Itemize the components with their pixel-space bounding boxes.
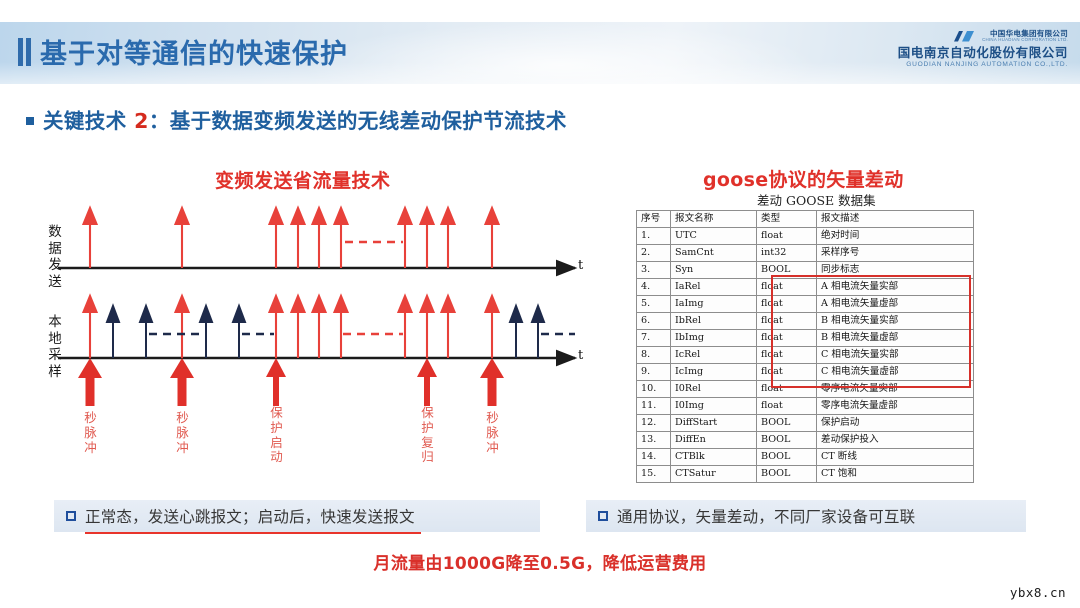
brand-en-small: CHINA HUADIAN CORPORATION LTD. [982,38,1068,43]
table-cell: 9. [637,364,671,381]
callout-label: 保护复归 [420,406,435,465]
right-panel-heading: goose协议的矢量差动 [703,165,904,192]
table-cell: IcImg [671,364,757,381]
table-cell: 5. [637,296,671,313]
table-caption: 差动 GOOSE 数据集 [757,190,876,209]
table-cell: A 相电流矢量实部 [817,279,974,296]
note-right-text: 通用协议，矢量差动，不同厂家设备可互联 [617,505,915,527]
brand-en-big: GUODIAN NANJING AUTOMATION CO.,LTD. [898,61,1068,68]
table-cell: DiffStart [671,415,757,432]
timing-diagram: 数据发送 本地采样 t t [30,196,590,486]
table-cell: B 相电流矢量虚部 [817,330,974,347]
brand-cn-big: 国电南京自动化股份有限公司 [898,46,1068,60]
table-cell: C 相电流矢量实部 [817,347,974,364]
title-bars-icon [18,38,31,66]
table-header-cell: 序号 [637,211,671,228]
left-panel-heading: 变频发送省流量技术 [215,166,391,193]
subtitle-text: 关键技术 2：基于数据变频发送的无线差动保护节流技术 [43,104,567,134]
table-cell: CT 断线 [817,449,974,466]
table-cell: 13. [637,432,671,449]
table-cell: B 相电流矢量实部 [817,313,974,330]
note-marker-icon [66,511,76,521]
table-row: 13.DiffEnBOOL差动保护投入 [637,432,974,449]
table-cell: 8. [637,347,671,364]
table-cell: 11. [637,398,671,415]
table-cell: BOOL [757,449,817,466]
callout-label: 秒脉冲 [175,411,190,455]
timing-diagram-svg [30,196,590,486]
subtitle-bullet-icon [26,117,34,125]
table-cell: float [757,279,817,296]
table-cell: CT 饱和 [817,466,974,483]
table-row: 15.CTSaturBOOLCT 饱和 [637,466,974,483]
table-cell: float [757,313,817,330]
callout-label: 秒脉冲 [485,411,500,455]
table-cell: 零序电流矢量虚部 [817,398,974,415]
table-cell: IaRel [671,279,757,296]
table-row: 2.SamCntint32采样序号 [637,245,974,262]
table-cell: float [757,228,817,245]
table-cell: 3. [637,262,671,279]
callout-pulse-3: 秒脉冲 [485,411,500,455]
table-cell: 采样序号 [817,245,974,262]
table-cell: I0Img [671,398,757,415]
goose-dataset-table: 序号报文名称类型报文描述1.UTCfloat绝对时间2.SamCntint32采… [636,210,974,483]
table-cell: float [757,398,817,415]
table-cell: UTC [671,228,757,245]
callout-pulse-2: 秒脉冲 [175,411,190,455]
table-row: 3.SynBOOL同步标志 [637,262,974,279]
table-cell: 10. [637,381,671,398]
subtitle-row: 关键技术 2：基于数据变频发送的无线差动保护节流技术 [26,104,567,134]
page-title-group: 基于对等通信的快速保护 [18,32,348,71]
table-row: 4.IaRelfloatA 相电流矢量实部 [637,279,974,296]
page-title: 基于对等通信的快速保护 [40,32,348,71]
callout-protect-start: 保护启动 [269,406,284,465]
subtitle-prefix: 关键技术 [43,109,134,133]
table-row: 11.I0Imgfloat零序电流矢量虚部 [637,398,974,415]
header-background-haze [300,22,820,84]
table-cell: C 相电流矢量虚部 [817,364,974,381]
table-cell: IaImg [671,296,757,313]
table-cell: 4. [637,279,671,296]
table-cell: float [757,381,817,398]
table-cell: float [757,296,817,313]
table-row: 9.IcImgfloatC 相电流矢量虚部 [637,364,974,381]
table-row: 6.IbRelfloatB 相电流矢量实部 [637,313,974,330]
callout-pulse-1: 秒脉冲 [83,411,98,455]
table-cell: BOOL [757,415,817,432]
table-header-cell: 报文描述 [817,211,974,228]
brand-cn-en-small: 中国华电集团有限公司 CHINA HUADIAN CORPORATION LTD… [982,30,1068,43]
callout-protect-reset: 保护复归 [420,406,435,465]
table-cell: Syn [671,262,757,279]
track-data-send [58,208,575,268]
callout-label: 保护启动 [269,406,284,465]
callout-label: 秒脉冲 [83,411,98,455]
note-marker-icon [598,511,608,521]
brand-block: 中国华电集团有限公司 CHINA HUADIAN CORPORATION LTD… [898,30,1068,69]
bottom-summary-text: 月流量由1000G降至0.5G，降低运营费用 [0,549,1080,574]
track-local-sample [58,296,575,358]
table-cell: int32 [757,245,817,262]
table-row: 8.IcRelfloatC 相电流矢量实部 [637,347,974,364]
table-cell: IbRel [671,313,757,330]
table-row: 14.CTBlkBOOLCT 断线 [637,449,974,466]
table-cell: BOOL [757,466,817,483]
table-cell: DiffEn [671,432,757,449]
subtitle-suffix: ：基于数据变频发送的无线差动保护节流技术 [149,109,567,133]
table-header-cell: 类型 [757,211,817,228]
table-cell: IcRel [671,347,757,364]
table-cell: 1. [637,228,671,245]
table-row: 12.DiffStartBOOL保护启动 [637,415,974,432]
table-row: 7.IbImgfloatB 相电流矢量虚部 [637,330,974,347]
table-header-cell: 报文名称 [671,211,757,228]
table-cell: 2. [637,245,671,262]
table-cell: float [757,347,817,364]
huadian-logo-icon [951,30,977,43]
table-cell: CTBlk [671,449,757,466]
table-header-row: 序号报文名称类型报文描述 [637,211,974,228]
watermark: ybx8.cn [1010,585,1066,600]
brand-top-row: 中国华电集团有限公司 CHINA HUADIAN CORPORATION LTD… [898,30,1068,43]
table-cell: 14. [637,449,671,466]
table-cell: CTSatur [671,466,757,483]
table-cell: 7. [637,330,671,347]
subtitle-number: 2 [134,109,149,133]
table-cell: BOOL [757,432,817,449]
table-row: 1.UTCfloat绝对时间 [637,228,974,245]
table-cell: 12. [637,415,671,432]
table-cell: 绝对时间 [817,228,974,245]
note-box-left: 正常态，发送心跳报文；启动后，快速发送报文 [54,500,540,532]
second-pulse-arrows [78,358,504,406]
table-row: 10.I0Relfloat零序电流矢量实部 [637,381,974,398]
table-cell: IbImg [671,330,757,347]
table-cell: float [757,330,817,347]
note-box-right: 通用协议，矢量差动，不同厂家设备可互联 [586,500,1026,532]
table-cell: 6. [637,313,671,330]
table-cell: 差动保护投入 [817,432,974,449]
table-cell: 保护启动 [817,415,974,432]
table-cell: 同步标志 [817,262,974,279]
table-row: 5.IaImgfloatA 相电流矢量虚部 [637,296,974,313]
table-cell: BOOL [757,262,817,279]
table-cell: 15. [637,466,671,483]
table-cell: float [757,364,817,381]
table-cell: A 相电流矢量虚部 [817,296,974,313]
table-cell: I0Rel [671,381,757,398]
table-cell: SamCnt [671,245,757,262]
table-cell: 零序电流矢量实部 [817,381,974,398]
note-left-text: 正常态，发送心跳报文；启动后，快速发送报文 [85,505,415,527]
